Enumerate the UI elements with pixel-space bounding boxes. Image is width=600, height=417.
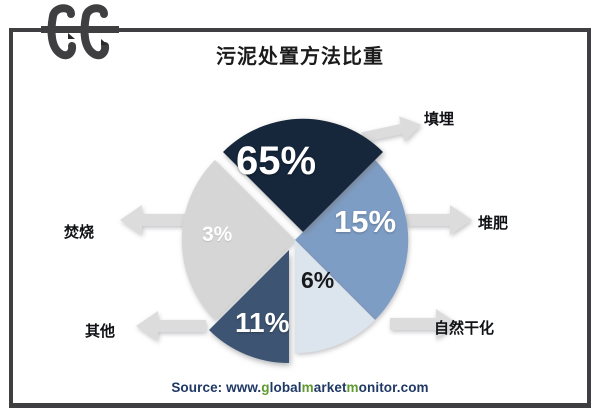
source-prefix: Source: www.	[171, 380, 261, 395]
source-onitor: onitor.com	[359, 380, 429, 395]
label-other: 其他	[85, 320, 115, 341]
pie-chart	[150, 100, 440, 375]
label-landfill: 填埋	[424, 108, 454, 129]
source-lobal: lobal	[270, 380, 302, 395]
border-bottom-bar	[9, 403, 591, 408]
label-incineration: 焚烧	[64, 221, 94, 242]
label-compost: 堆肥	[478, 212, 508, 233]
source-credit: Source: www.globalmarketmonitor.com	[0, 380, 600, 395]
infographic-canvas: 污泥处置方法比重	[0, 0, 600, 417]
label-drying: 自然干化	[434, 317, 494, 338]
source-arket: arket	[314, 380, 347, 395]
source-accent-g: g	[261, 380, 269, 395]
cc-logo	[41, 2, 119, 64]
source-accent-m2: m	[347, 380, 359, 395]
source-accent-m1: m	[302, 380, 314, 395]
